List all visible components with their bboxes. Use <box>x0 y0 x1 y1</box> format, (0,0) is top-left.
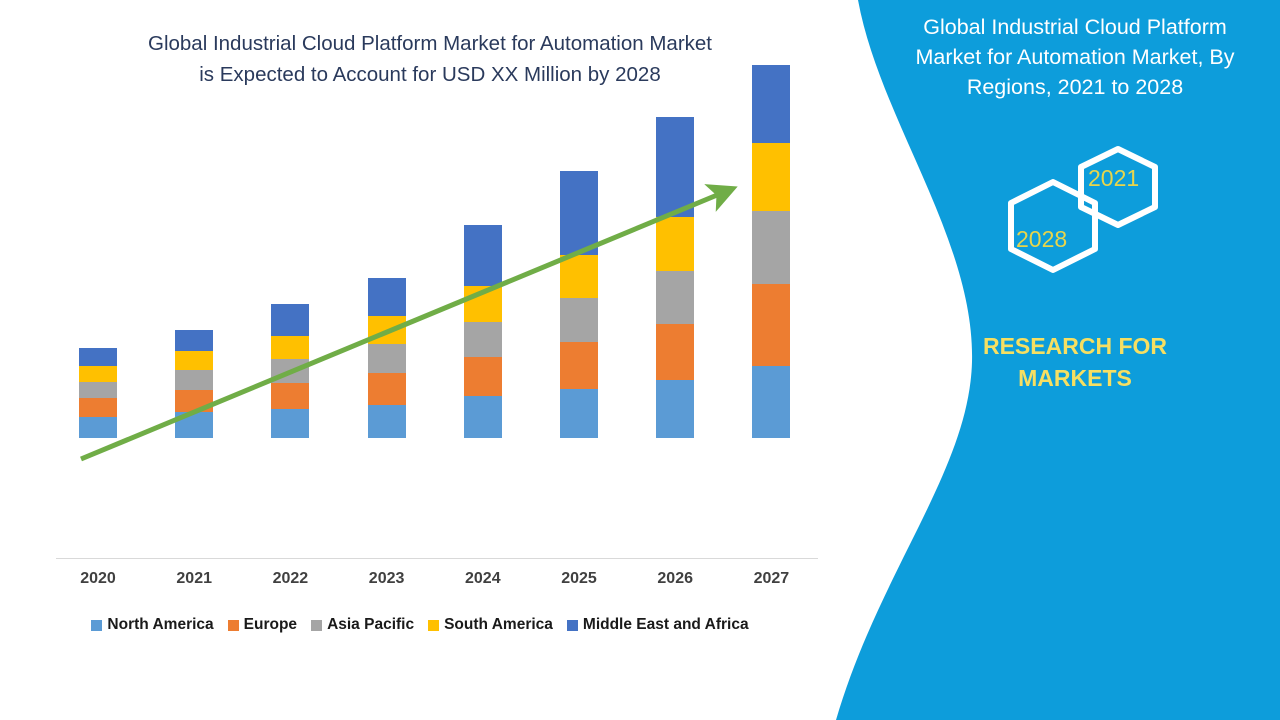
bar-segment <box>656 117 694 217</box>
bar-segment <box>656 324 694 380</box>
chart-plot-area: 20202021202220232024202520262027 <box>0 0 840 600</box>
bar-segment <box>79 398 117 417</box>
bar-segment <box>560 389 598 438</box>
bar-stack <box>752 65 790 438</box>
legend-label: Europe <box>244 616 297 634</box>
bar-stack <box>368 278 406 438</box>
x-tick-label: 2021 <box>159 570 229 588</box>
bar-segment <box>175 351 213 370</box>
legend-swatch-icon <box>567 620 578 631</box>
right-panel-content: Global Industrial Cloud Platform Market … <box>890 0 1280 720</box>
bar-segment <box>560 342 598 389</box>
bar-segment <box>560 171 598 255</box>
bar-segment <box>560 298 598 342</box>
x-tick-label: 2022 <box>255 570 325 588</box>
legend-item[interactable]: Asia Pacific <box>311 616 414 634</box>
bar-stack <box>464 225 502 438</box>
bar-stack <box>656 117 694 438</box>
bar-segment <box>368 405 406 438</box>
bar-segment <box>79 417 117 438</box>
bar-segment <box>752 211 790 284</box>
bar-segment <box>79 382 117 398</box>
chart-legend: North AmericaEuropeAsia PacificSouth Ame… <box>0 616 840 634</box>
bar-segment <box>656 380 694 438</box>
x-tick-label: 2024 <box>448 570 518 588</box>
legend-swatch-icon <box>311 620 322 631</box>
hexagon-badges: 2028 2021 <box>990 140 1190 290</box>
x-tick-label: 2027 <box>736 570 806 588</box>
bar-segment <box>175 412 213 438</box>
bar-segment <box>560 255 598 298</box>
bar-segment <box>464 396 502 438</box>
panel-title: Global Industrial Cloud Platform Market … <box>890 12 1260 102</box>
bar-segment <box>464 357 502 396</box>
bar-segment <box>175 390 213 412</box>
bar-segment <box>79 348 117 366</box>
legend-label: South America <box>444 616 553 634</box>
legend-label: Middle East and Africa <box>583 616 749 634</box>
bar-segment <box>656 217 694 271</box>
x-axis-line <box>56 558 818 559</box>
x-tick-label: 2023 <box>352 570 422 588</box>
bar-segment <box>752 366 790 438</box>
bar-segment <box>271 304 309 336</box>
bar-segment <box>656 271 694 324</box>
legend-swatch-icon <box>428 620 439 631</box>
bar-segment <box>271 409 309 438</box>
bar-segment <box>368 316 406 344</box>
bar-stack <box>79 348 117 438</box>
bar-segment <box>752 65 790 143</box>
bar-segment <box>464 286 502 322</box>
legend-item[interactable]: South America <box>428 616 553 634</box>
hexagon-outline-icons <box>990 140 1190 290</box>
bar-segment <box>271 383 309 409</box>
hex-badge-label-2021: 2021 <box>1088 165 1139 192</box>
trend-arrow-icon <box>0 0 840 600</box>
legend-item[interactable]: Europe <box>228 616 297 634</box>
bar-segment <box>464 225 502 286</box>
bar-segment <box>368 373 406 405</box>
hex-badge-label-2028: 2028 <box>1016 226 1067 253</box>
bar-segment <box>752 143 790 211</box>
x-tick-label: 2025 <box>544 570 614 588</box>
bar-segment <box>271 359 309 383</box>
x-tick-label: 2026 <box>640 570 710 588</box>
x-tick-label: 2020 <box>63 570 133 588</box>
legend-item[interactable]: Middle East and Africa <box>567 616 749 634</box>
slide-canvas: Global Industrial Cloud Platform Market … <box>0 0 1280 720</box>
brand-logo-text: RESEARCH FORMARKETS <box>890 330 1260 394</box>
legend-label: North America <box>107 616 213 634</box>
bar-stack <box>175 330 213 438</box>
legend-item[interactable]: North America <box>91 616 213 634</box>
bar-segment <box>368 278 406 316</box>
bar-segment <box>368 344 406 373</box>
legend-swatch-icon <box>228 620 239 631</box>
bar-segment <box>271 336 309 359</box>
legend-swatch-icon <box>91 620 102 631</box>
bar-segment <box>752 284 790 366</box>
bar-segment <box>79 366 117 382</box>
bar-segment <box>175 370 213 390</box>
bar-stack <box>560 171 598 438</box>
bar-segment <box>464 322 502 357</box>
bar-segment <box>175 330 213 351</box>
bar-stack <box>271 304 309 438</box>
legend-label: Asia Pacific <box>327 616 414 634</box>
